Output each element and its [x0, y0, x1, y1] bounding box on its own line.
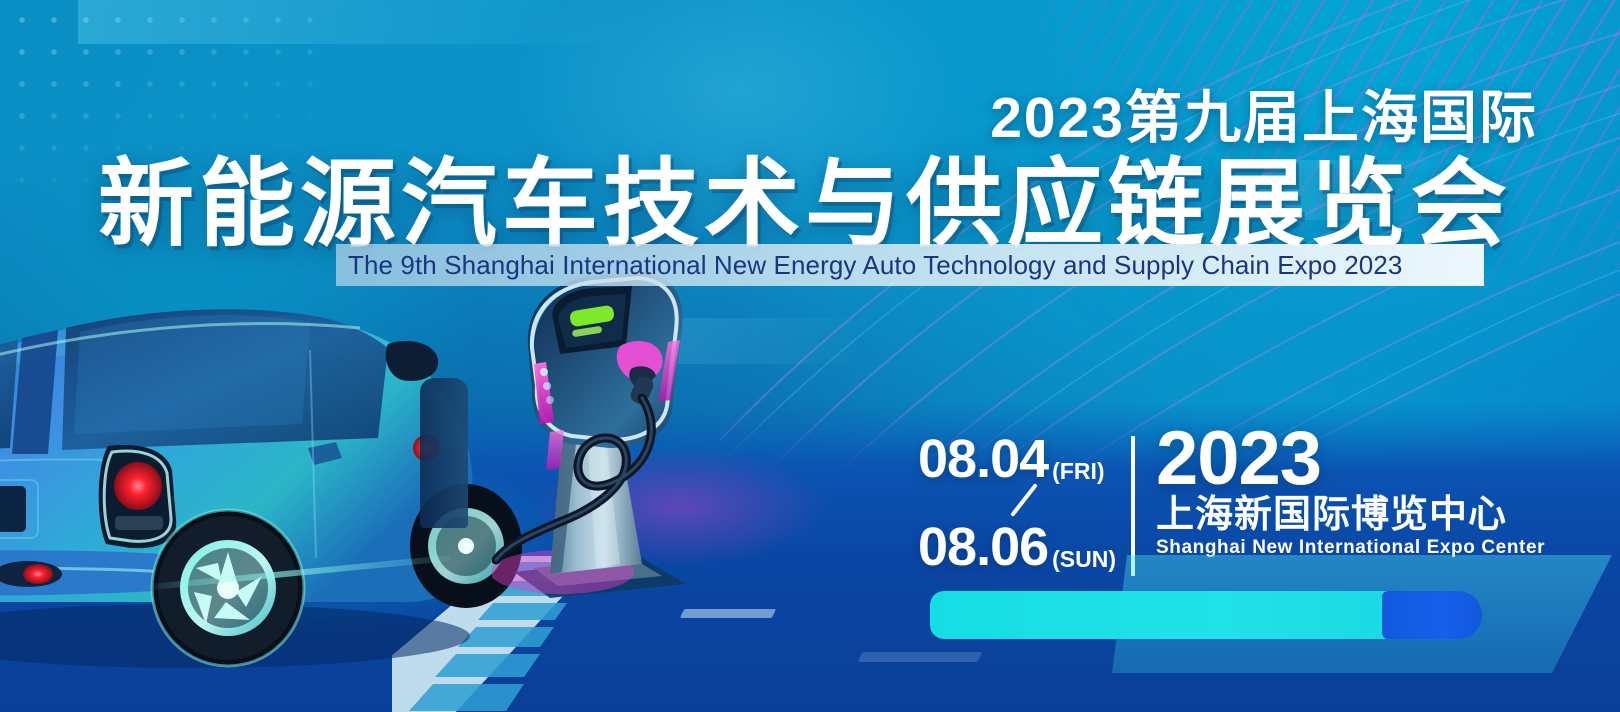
year-venue-block: 2023 上海新国际博览中心 Shanghai New Internationa… — [1156, 424, 1576, 559]
accent-pill-bar — [930, 591, 1482, 639]
light-shard-top — [78, 0, 758, 44]
ev-charging-station — [492, 272, 702, 602]
date-range: 08.04 (FRI) 08.06 (SUN) — [918, 432, 1158, 578]
start-day: (FRI) — [1052, 460, 1104, 483]
end-day: (SUN) — [1052, 548, 1116, 571]
lane-dash-3 — [858, 652, 983, 662]
subtitle-text: The 9th Shanghai International New Energ… — [336, 250, 1402, 281]
expo-banner: 2023第九届上海国际 新能源汽车技术与供应链展览会 The 9th Shang… — [0, 0, 1620, 712]
start-date: 08.04 — [918, 432, 1048, 486]
charger-silhouette — [420, 378, 468, 528]
subtitle-band: The 9th Shanghai International New Energ… — [336, 244, 1484, 286]
lane-dash-2 — [680, 609, 776, 618]
end-date: 08.06 — [918, 520, 1048, 574]
pill-blue-cap — [1382, 591, 1482, 639]
venue-name-cn: 上海新国际博览中心 — [1156, 496, 1576, 536]
pill-cyan-segment — [930, 591, 1410, 639]
year-text: 2023 — [1156, 424, 1576, 494]
